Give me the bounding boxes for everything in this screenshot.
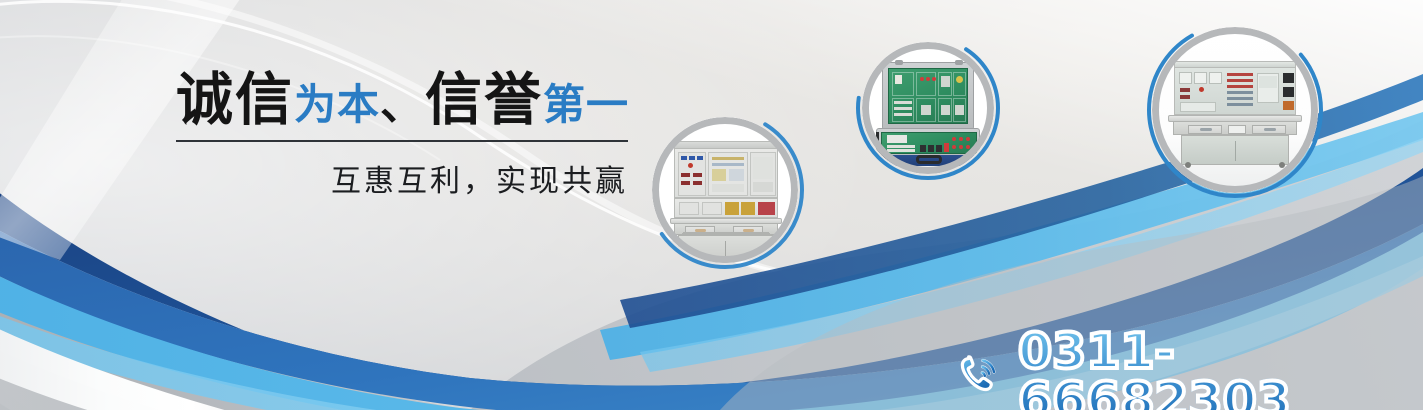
headline: 诚信 为本 、 信誉 第一 <box>176 72 628 129</box>
product-circle-2[interactable] <box>862 42 994 174</box>
headline-part-3: 信誉 <box>425 72 543 129</box>
phone-icon <box>955 350 1004 402</box>
product-image-1 <box>652 117 798 263</box>
phone-number[interactable]: 0311-66682303 <box>1018 327 1423 410</box>
contact-block[interactable]: 0311-66682303 <box>955 327 1423 410</box>
headline-part-1: 诚信 <box>176 72 294 129</box>
subtitle: 互惠互利，实现共赢 <box>176 156 628 200</box>
headline-block: 诚信 为本 、 信誉 第一 互惠互利，实现共赢 <box>176 72 628 200</box>
headline-separator: 、 <box>380 83 425 127</box>
promo-banner: 诚信 为本 、 信誉 第一 互惠互利，实现共赢 <box>0 0 1423 410</box>
product-circle-1[interactable] <box>652 117 798 263</box>
headline-divider <box>176 140 628 142</box>
headline-part-2: 为本 <box>294 84 380 126</box>
product-circle-3[interactable] <box>1152 27 1318 193</box>
product-image-3 <box>1152 27 1318 193</box>
product-image-2 <box>862 42 994 174</box>
headline-part-4: 第一 <box>543 84 629 126</box>
